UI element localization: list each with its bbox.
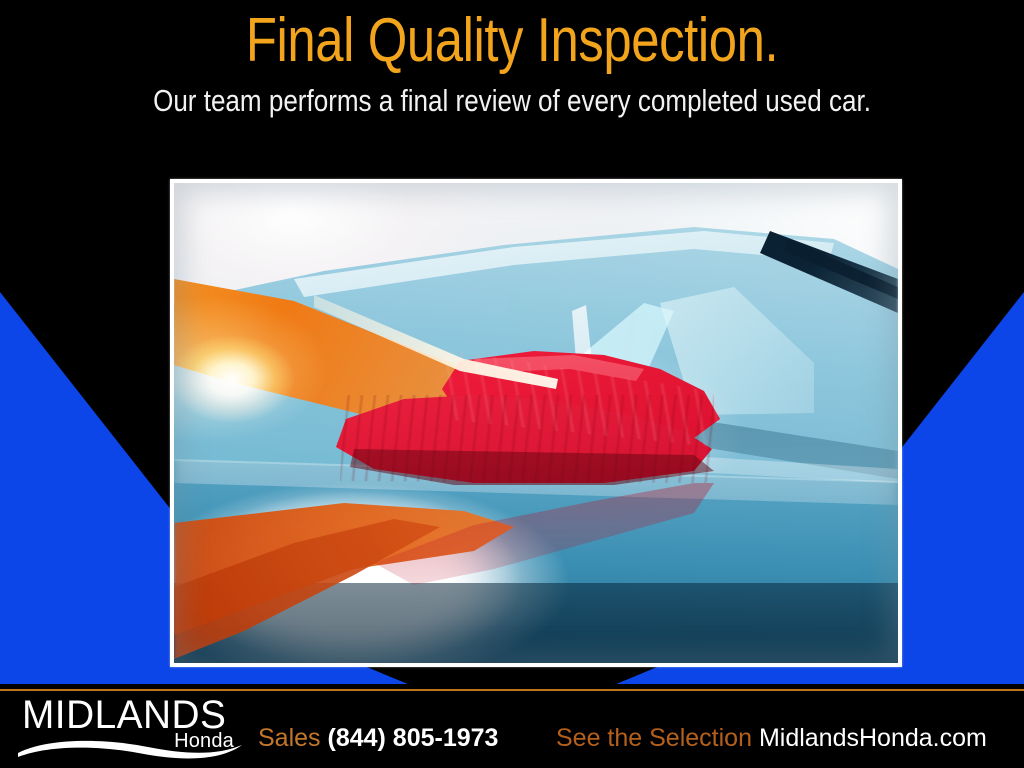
photo-layer-vignette [174, 183, 898, 663]
ad-creative: Final Quality Inspection. Our team perfo… [0, 0, 1024, 768]
page-title: Final Quality Inspection. [92, 10, 932, 72]
website-url[interactable]: MidlandsHonda.com [759, 724, 987, 752]
sales-label: Sales [258, 724, 321, 752]
photo-frame [170, 179, 902, 667]
selection-label: See the Selection [556, 724, 752, 752]
sales-phone-number[interactable]: (844) 805-1973 [328, 724, 499, 752]
hero-photo [174, 183, 898, 663]
sales-contact[interactable]: Sales (844) 805-1973 [258, 724, 498, 752]
footer-divider [0, 689, 1024, 691]
footer-bar: MIDLANDS Honda Sales (844) 805-1973 See … [0, 684, 1024, 768]
selection-cta[interactable]: See the Selection MidlandsHonda.com [556, 724, 987, 752]
headline-block: Final Quality Inspection. Our team perfo… [0, 0, 1024, 150]
logo-swoosh-icon [16, 735, 248, 761]
page-subtitle: Our team performs a final review of ever… [82, 84, 942, 118]
dealer-logo[interactable]: MIDLANDS Honda [16, 695, 248, 761]
logo-brand-text: MIDLANDS [22, 695, 226, 735]
